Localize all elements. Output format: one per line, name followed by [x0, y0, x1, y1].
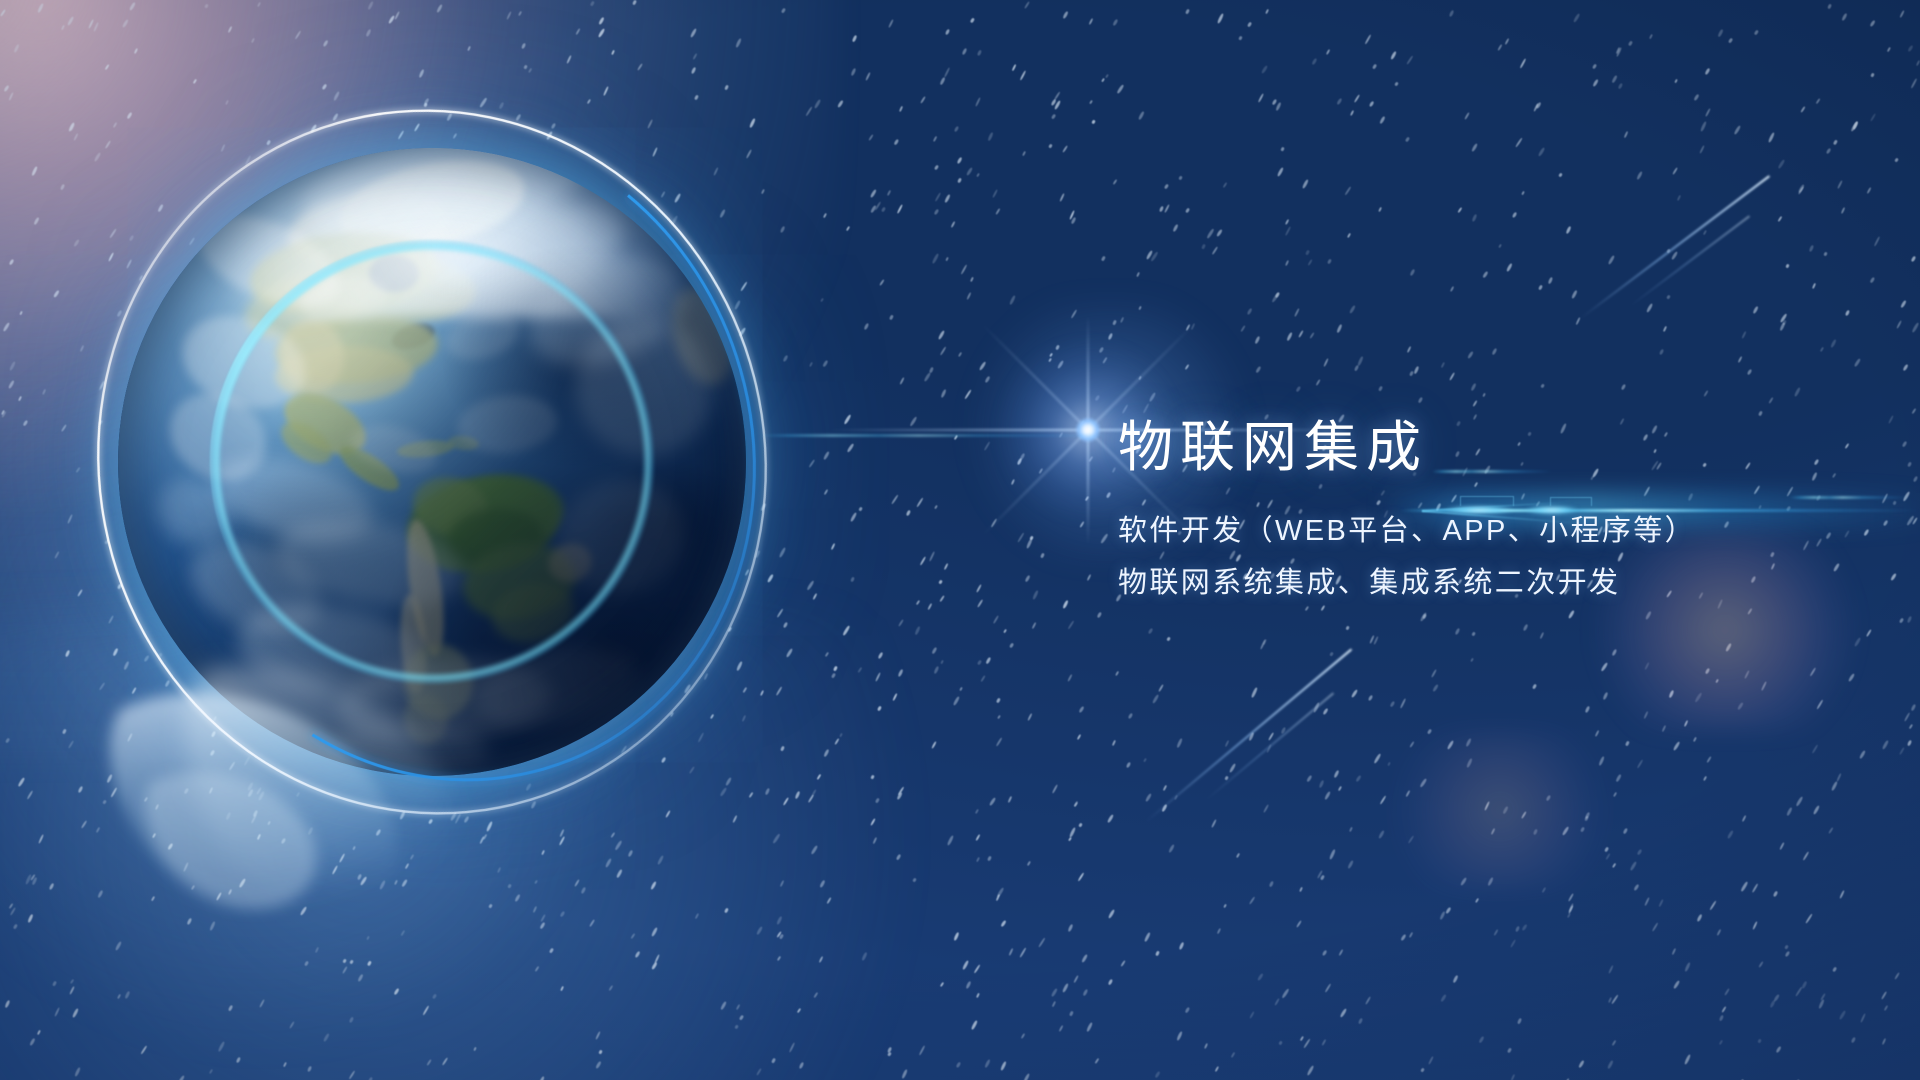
banner-copy: 物联网集成 软件开发（WEB平台、APP、小程序等） 物联网系统集成、集成系统二… [1118, 418, 1878, 609]
subtitle-line-1: 软件开发（WEB平台、APP、小程序等） [1118, 505, 1878, 557]
banner-stage: 物联网集成 软件开发（WEB平台、APP、小程序等） 物联网系统集成、集成系统二… [0, 0, 1920, 1080]
inner-cyan-orbit-arc [73, 52, 832, 852]
subtitle-line-2: 物联网系统集成、集成系统二次开发 [1118, 557, 1878, 609]
subtitle-block: 软件开发（WEB平台、APP、小程序等） 物联网系统集成、集成系统二次开发 [1118, 505, 1878, 609]
outer-white-orbit-arc [38, 53, 826, 871]
page-title: 物联网集成 [1118, 418, 1878, 477]
